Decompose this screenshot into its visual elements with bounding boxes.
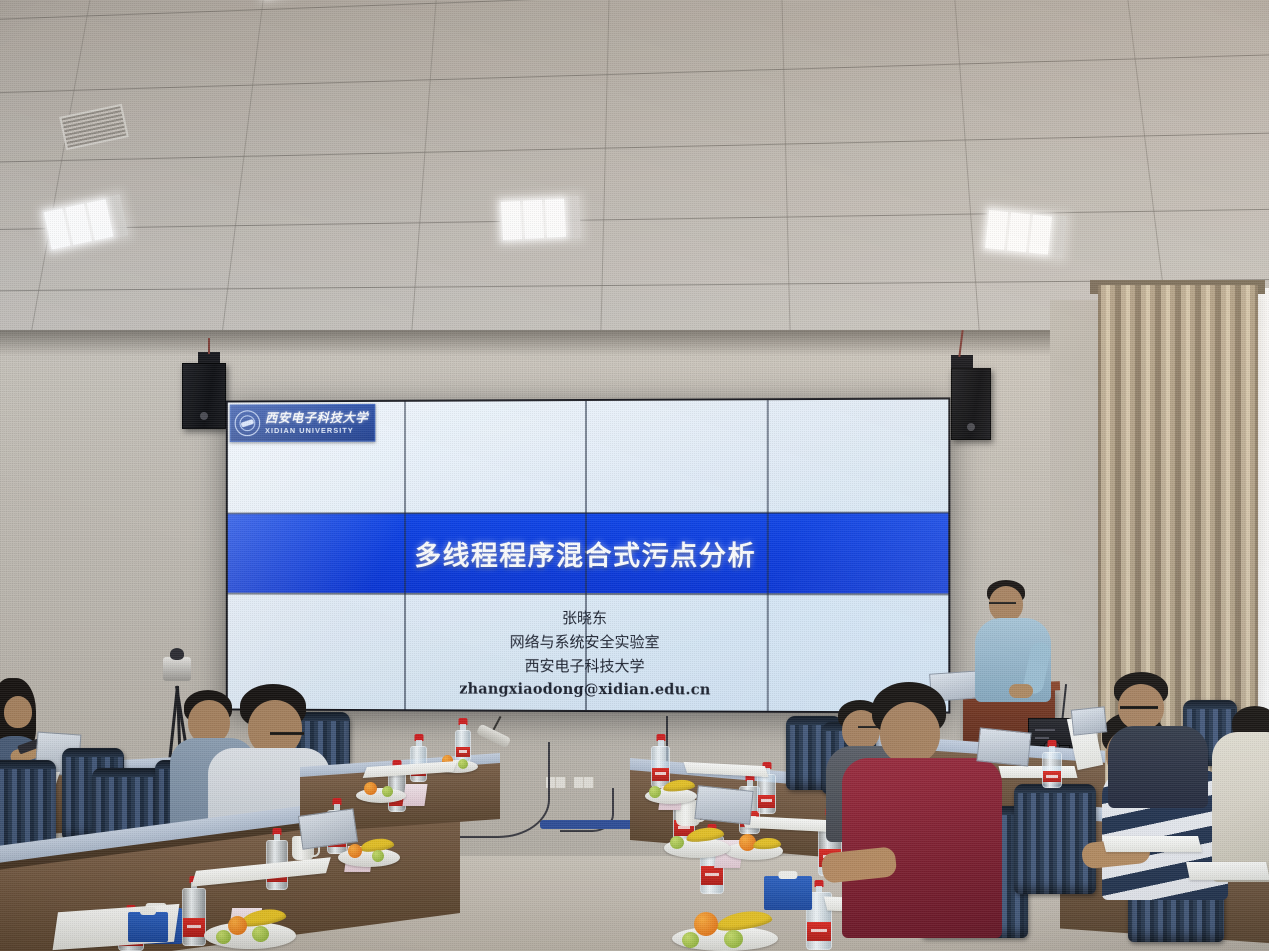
fruit-plate	[672, 926, 778, 951]
fruit-plate	[338, 848, 400, 867]
camera-lens-icon	[170, 648, 184, 660]
wall-speaker-left	[182, 363, 226, 429]
orange	[228, 916, 247, 935]
water-bottle[interactable]	[410, 734, 427, 782]
fruit-plate	[645, 788, 697, 804]
attendee-torso	[1212, 732, 1269, 882]
fruit-plate	[204, 922, 296, 949]
ceiling-light-fixture	[983, 208, 1067, 258]
green-apple	[382, 786, 393, 797]
fruit-plate	[664, 838, 730, 858]
water-bottle[interactable]	[651, 734, 670, 788]
green-apple	[458, 759, 468, 769]
speaker-brand-badge-icon	[200, 412, 208, 420]
attendee-right-4	[1104, 672, 1214, 802]
orange	[364, 782, 377, 795]
wall-speaker-right	[951, 368, 991, 440]
attendee-laptop[interactable]	[694, 785, 753, 825]
presenter-glasses	[989, 602, 1016, 604]
water-bottle[interactable]	[266, 828, 288, 890]
handout-paper	[1186, 862, 1269, 880]
fruit-plate	[356, 788, 406, 803]
green-apple	[682, 932, 699, 948]
green-apple	[216, 930, 231, 944]
office-chair[interactable]	[1014, 784, 1096, 894]
attendee-glasses	[270, 732, 304, 735]
name-card	[402, 784, 427, 806]
ceiling-light-fixture	[499, 196, 581, 242]
handout-paper	[1102, 836, 1202, 852]
presenter-head	[989, 586, 1023, 622]
attendee-laptop[interactable]	[1071, 706, 1108, 735]
attendee-torso	[1108, 726, 1208, 808]
tissue-box[interactable]	[128, 912, 168, 942]
attendee-right-front	[850, 682, 1018, 932]
speaker-brand-badge-icon	[967, 423, 975, 431]
handout-paper	[999, 766, 1078, 778]
attendee-glasses	[1120, 706, 1158, 709]
water-bottle[interactable]	[455, 718, 471, 762]
video-camera-on-tripod	[163, 657, 191, 681]
fruit-plate	[725, 842, 783, 860]
speaker-cable-left	[208, 338, 210, 354]
lcd-video-wall[interactable]: 多线程程序混合式污点分析 张晓东 网络与系统安全实验室 西安电子科技大学 zha…	[226, 397, 951, 713]
speaker-bracket-right	[951, 355, 973, 369]
water-bottle[interactable]	[1042, 740, 1062, 788]
attendee-laptop[interactable]	[976, 727, 1031, 766]
conference-room-photo: 多线程程序混合式污点分析 张晓东 网络与系统安全实验室 西安电子科技大学 zha…	[0, 0, 1269, 951]
green-apple	[372, 850, 384, 862]
attendee-head	[880, 702, 940, 764]
green-apple	[670, 836, 684, 849]
attendee-right-5	[1208, 706, 1269, 886]
attendee-head	[4, 696, 32, 728]
green-apple	[649, 786, 661, 798]
orange	[348, 844, 362, 858]
attendee-torso	[842, 758, 1002, 938]
green-apple	[724, 930, 743, 948]
green-apple	[252, 926, 269, 942]
water-bottle[interactable]	[182, 876, 206, 946]
tissue-box[interactable]	[764, 876, 812, 910]
orange	[694, 912, 718, 936]
